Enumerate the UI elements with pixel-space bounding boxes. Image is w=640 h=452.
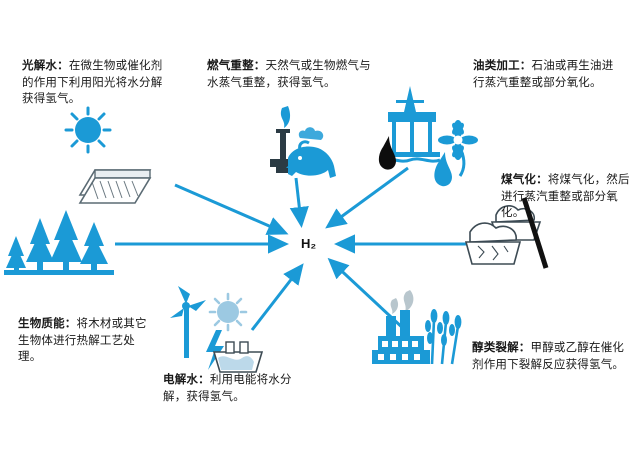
- label-gas-reforming-heading: 燃气重整：: [207, 60, 266, 72]
- label-coal-gasification: 煤气化：将煤气化，然后进行蒸汽重整或部分氧化。: [501, 172, 633, 222]
- label-oil-processing: 油类加工：石油或再生油进行蒸汽重整或部分氧化。: [473, 58, 625, 91]
- sun-and-water-panel-icon: [66, 108, 150, 203]
- label-photolysis-heading: 光解水：: [22, 60, 69, 72]
- label-biomass-heading: 生物质能：: [18, 318, 77, 330]
- label-alcohol-cracking: 醇类裂解：甲醇或乙醇在催化剂作用下裂解反应获得氢气。: [472, 340, 630, 373]
- label-electrolysis-heading: 电解水：: [163, 374, 210, 386]
- arrow-gas-reforming: [296, 178, 301, 222]
- label-oil-processing-heading: 油类加工：: [473, 60, 532, 72]
- label-biomass: 生物质能：将木材或其它生物体进行热解工艺处理。: [18, 316, 150, 366]
- arrow-electrolysis: [252, 268, 300, 330]
- hydrogen-center-label: H₂: [301, 236, 316, 251]
- gas-flare-and-cow-icon: [270, 106, 336, 178]
- forest-trees-icon: [4, 210, 114, 275]
- arrow-group: [115, 168, 470, 330]
- label-gas-reforming: 燃气重整：天然气或生物燃气与水蒸气重整，获得氢气。: [207, 58, 377, 91]
- label-electrolysis: 电解水：利用电能将水分解，获得氢气。: [163, 372, 315, 405]
- label-coal-gasification-heading: 煤气化：: [501, 174, 548, 186]
- label-alcohol-cracking-heading: 醇类裂解：: [472, 342, 531, 354]
- label-photolysis: 光解水：在微生物或催化剂的作用下利用阳光将水分解获得氢气。: [22, 58, 174, 108]
- offshore-rig-oil-drop-icon: [379, 86, 478, 186]
- arrow-oil-processing: [330, 168, 408, 225]
- arrow-photolysis: [175, 185, 283, 232]
- factory-and-wheat-icon: [372, 290, 461, 364]
- windmill-sun-bolt-icon: [170, 286, 262, 372]
